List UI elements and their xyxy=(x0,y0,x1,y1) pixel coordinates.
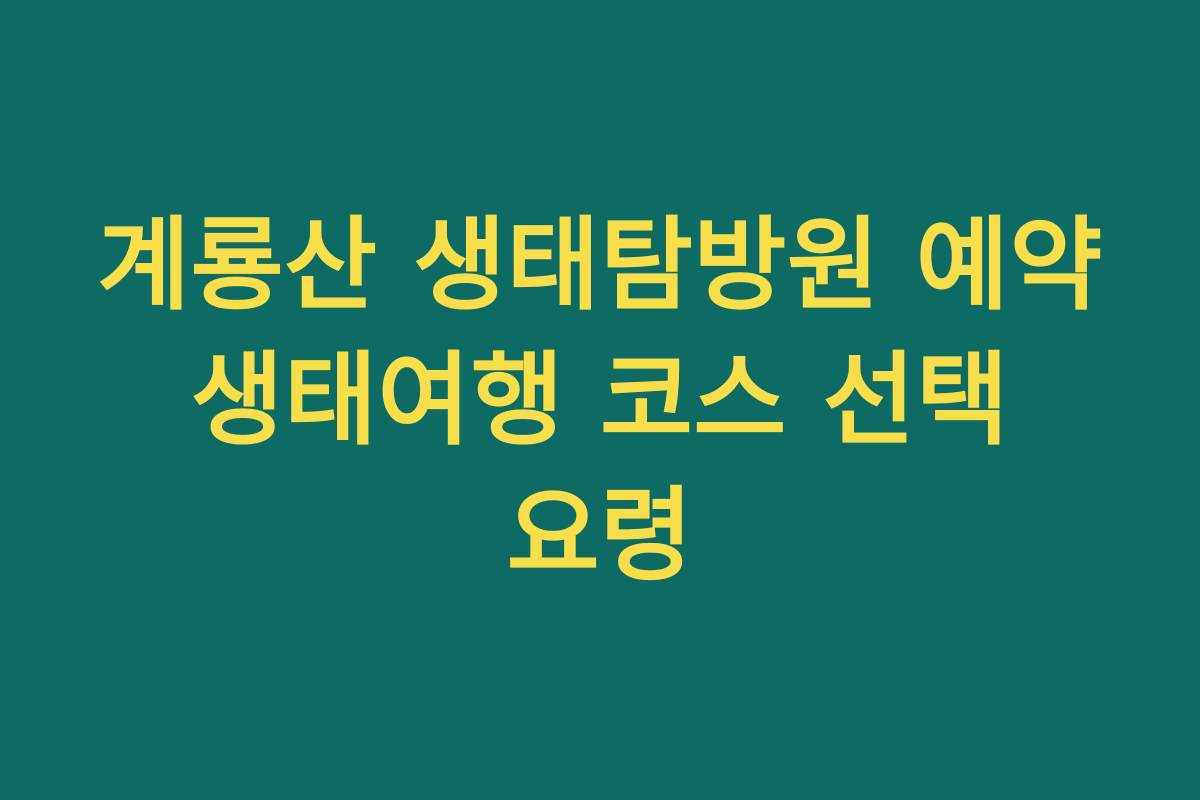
title-banner: 계룡산 생태탐방원 예약 생태여행 코스 선택 요령 xyxy=(0,0,1200,800)
page-title: 계룡산 생태탐방원 예약 생태여행 코스 선택 요령 xyxy=(85,198,1115,603)
title-block: 계룡산 생태탐방원 예약 생태여행 코스 선택 요령 xyxy=(85,198,1115,603)
